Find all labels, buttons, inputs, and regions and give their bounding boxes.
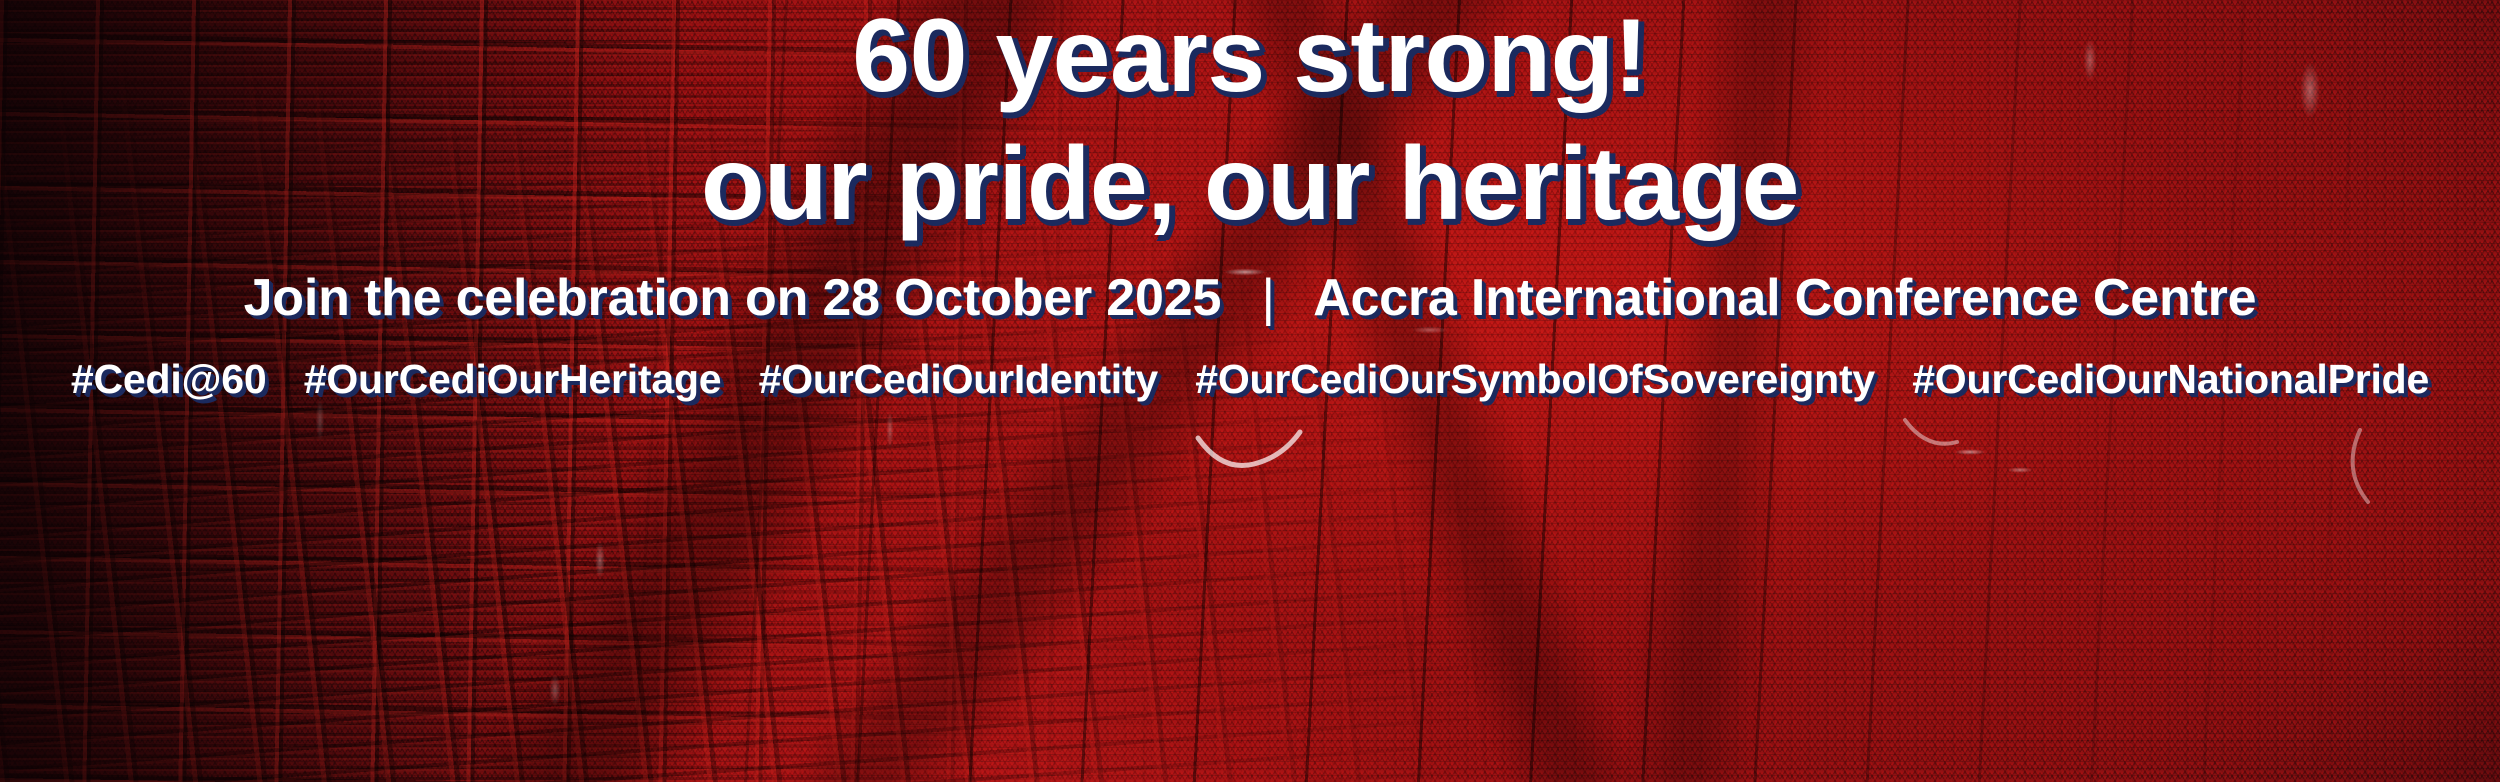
hashtag-our-cedi-our-heritage[interactable]: #OurCediOurHeritage — [304, 356, 722, 403]
event-details-line: Join the celebration on 28 October 2025 … — [0, 268, 2500, 328]
hashtag-cedi-60[interactable]: #Cedi@60 — [71, 356, 267, 403]
banner-content: 60 years strong! our pride, our heritage… — [0, 0, 2500, 782]
hashtag-our-cedi-our-identity[interactable]: #OurCediOurIdentity — [759, 356, 1158, 403]
headline-line-2: our pride, our heritage — [0, 134, 2500, 236]
event-separator: | — [1235, 268, 1300, 328]
cedi-60-anniversary-banner: 60 years strong! our pride, our heritage… — [0, 0, 2500, 782]
hashtag-our-cedi-our-symbol-of-sovereignty[interactable]: #OurCediOurSymbolOfSovereignty — [1195, 356, 1875, 403]
event-venue: Accra International Conference Centre — [1313, 269, 2256, 327]
headline-line-1: 60 years strong! — [0, 6, 2500, 108]
hashtag-our-cedi-our-national-pride[interactable]: #OurCediOurNationalPride — [1912, 356, 2429, 403]
hashtag-list: #Cedi@60 #OurCediOurHeritage #OurCediOur… — [0, 356, 2500, 403]
event-invitation: Join the celebration on 28 October 2025 — [244, 269, 1222, 327]
